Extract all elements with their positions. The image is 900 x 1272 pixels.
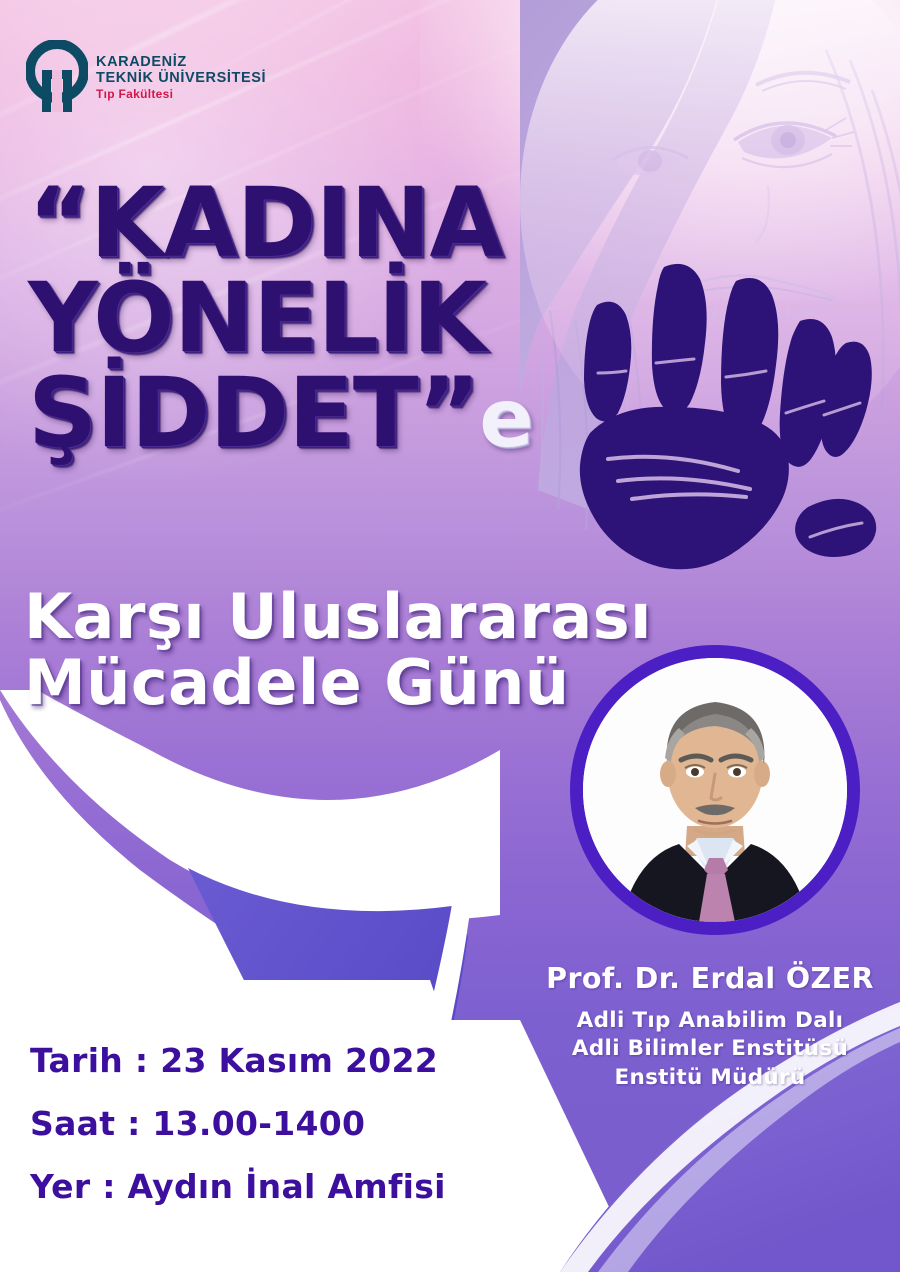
detail-value-time: 13.00-1400	[152, 1107, 365, 1140]
ktu-circle-mark-icon	[26, 40, 88, 112]
speaker-portrait	[570, 645, 860, 935]
detail-label-date: Tarih :	[30, 1044, 148, 1077]
title-line-2: YÖNELİK	[28, 271, 648, 366]
poster-subtitle: Karşı Uluslararası Mücadele Günü	[24, 584, 704, 715]
speaker-info: Prof. Dr. Erdal ÖZER Adli Tıp Anabilim D…	[520, 962, 900, 1092]
detail-row-date: Tarih : 23 Kasım 2022	[30, 1044, 446, 1077]
event-details: Tarih : 23 Kasım 2022 Saat : 13.00-1400 …	[30, 1044, 446, 1203]
logo-text-block: KARADENİZ TEKNİK ÜNİVERSİTESİ Tıp Fakült…	[96, 51, 266, 101]
detail-row-time: Saat : 13.00-1400	[30, 1107, 446, 1140]
poster-title: “KADINA YÖNELİK ŞİDDET”e	[28, 176, 648, 461]
title-line-3-suffix: e	[479, 372, 532, 465]
title-line-1: “KADINA	[28, 176, 648, 271]
detail-value-date: 23 Kasım 2022	[160, 1044, 438, 1077]
speaker-affiliation-line-3: Enstitü Müdürü	[520, 1064, 900, 1092]
university-logo: KARADENİZ TEKNİK ÜNİVERSİTESİ Tıp Fakült…	[26, 40, 266, 112]
detail-label-time: Saat :	[30, 1107, 141, 1140]
speaker-affiliation-line-1: Adli Tıp Anabilim Dalı	[520, 1007, 900, 1035]
poster-canvas: KARADENİZ TEKNİK ÜNİVERSİTESİ Tıp Fakült…	[0, 0, 900, 1272]
logo-line-tip-fakultesi: Tıp Fakültesi	[96, 88, 266, 101]
speaker-name: Prof. Dr. Erdal ÖZER	[520, 962, 900, 995]
subtitle-line-1: Karşı Uluslararası	[24, 584, 704, 650]
speaker-portrait-image	[583, 658, 847, 922]
title-line-3: ŞİDDET”e	[28, 366, 648, 461]
logo-line-karadeniz: KARADENİZ	[96, 55, 266, 71]
detail-value-place: Aydın İnal Amfisi	[128, 1170, 446, 1203]
logo-line-teknik-universitesi: TEKNİK ÜNİVERSİTESİ	[96, 71, 266, 87]
speaker-affiliation: Adli Tıp Anabilim Dalı Adli Bilimler Ens…	[520, 1007, 900, 1092]
speaker-affiliation-line-2: Adli Bilimler Enstitüsü	[520, 1035, 900, 1063]
title-line-3-main: ŞİDDET”	[28, 357, 479, 469]
detail-row-place: Yer : Aydın İnal Amfisi	[30, 1170, 446, 1203]
detail-label-place: Yer :	[30, 1170, 116, 1203]
